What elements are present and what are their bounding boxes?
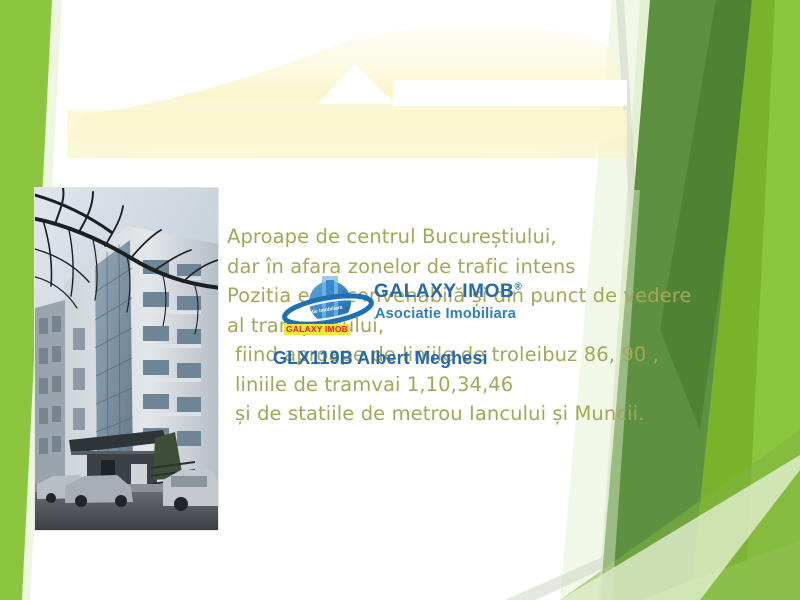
body-line-1: Aproape de centrul Bucureștiului, <box>227 222 657 252</box>
right-deep-green-wedge <box>660 0 760 430</box>
body-line-7: și de statiile de metrou Iancului și Mun… <box>227 399 657 429</box>
right-mid-green-band <box>690 0 800 600</box>
watermark-brand-text: GALAXY IMOB <box>374 281 514 302</box>
watermark-tagline: Asociatie Imobiliara <box>375 306 516 322</box>
title-placeholder-wash <box>55 18 630 163</box>
watermark-brand-name: GALAXY IMOB® <box>374 281 522 303</box>
body-line-6: liniile de tramvai 1,10,34,46 <box>227 370 657 400</box>
wash-notch-right <box>393 80 627 106</box>
galaxy-imob-watermark: Asociatie Imobiliara GALAXY IMOB® Asocia… <box>282 272 527 364</box>
listing-reference-and-agent: GLX119B Albert Meghesi <box>273 348 488 369</box>
bottom-right-pale-triangle <box>640 540 800 600</box>
wash-band <box>67 110 627 158</box>
wash-blob <box>67 25 627 152</box>
hairline-lower <box>505 470 800 600</box>
right-light-green-band <box>745 0 800 600</box>
watermark-badge: GALAXY IMOB <box>284 324 350 335</box>
bottom-pale-triangle <box>560 455 800 600</box>
building-exterior-photo <box>35 188 218 530</box>
registered-trademark-icon: ® <box>514 282 522 293</box>
presentation-slide: Aproape de centrul Bucureștiului, dar în… <box>0 0 800 600</box>
bottom-mid-green-triangle <box>560 430 800 600</box>
wash-notch <box>317 64 395 104</box>
